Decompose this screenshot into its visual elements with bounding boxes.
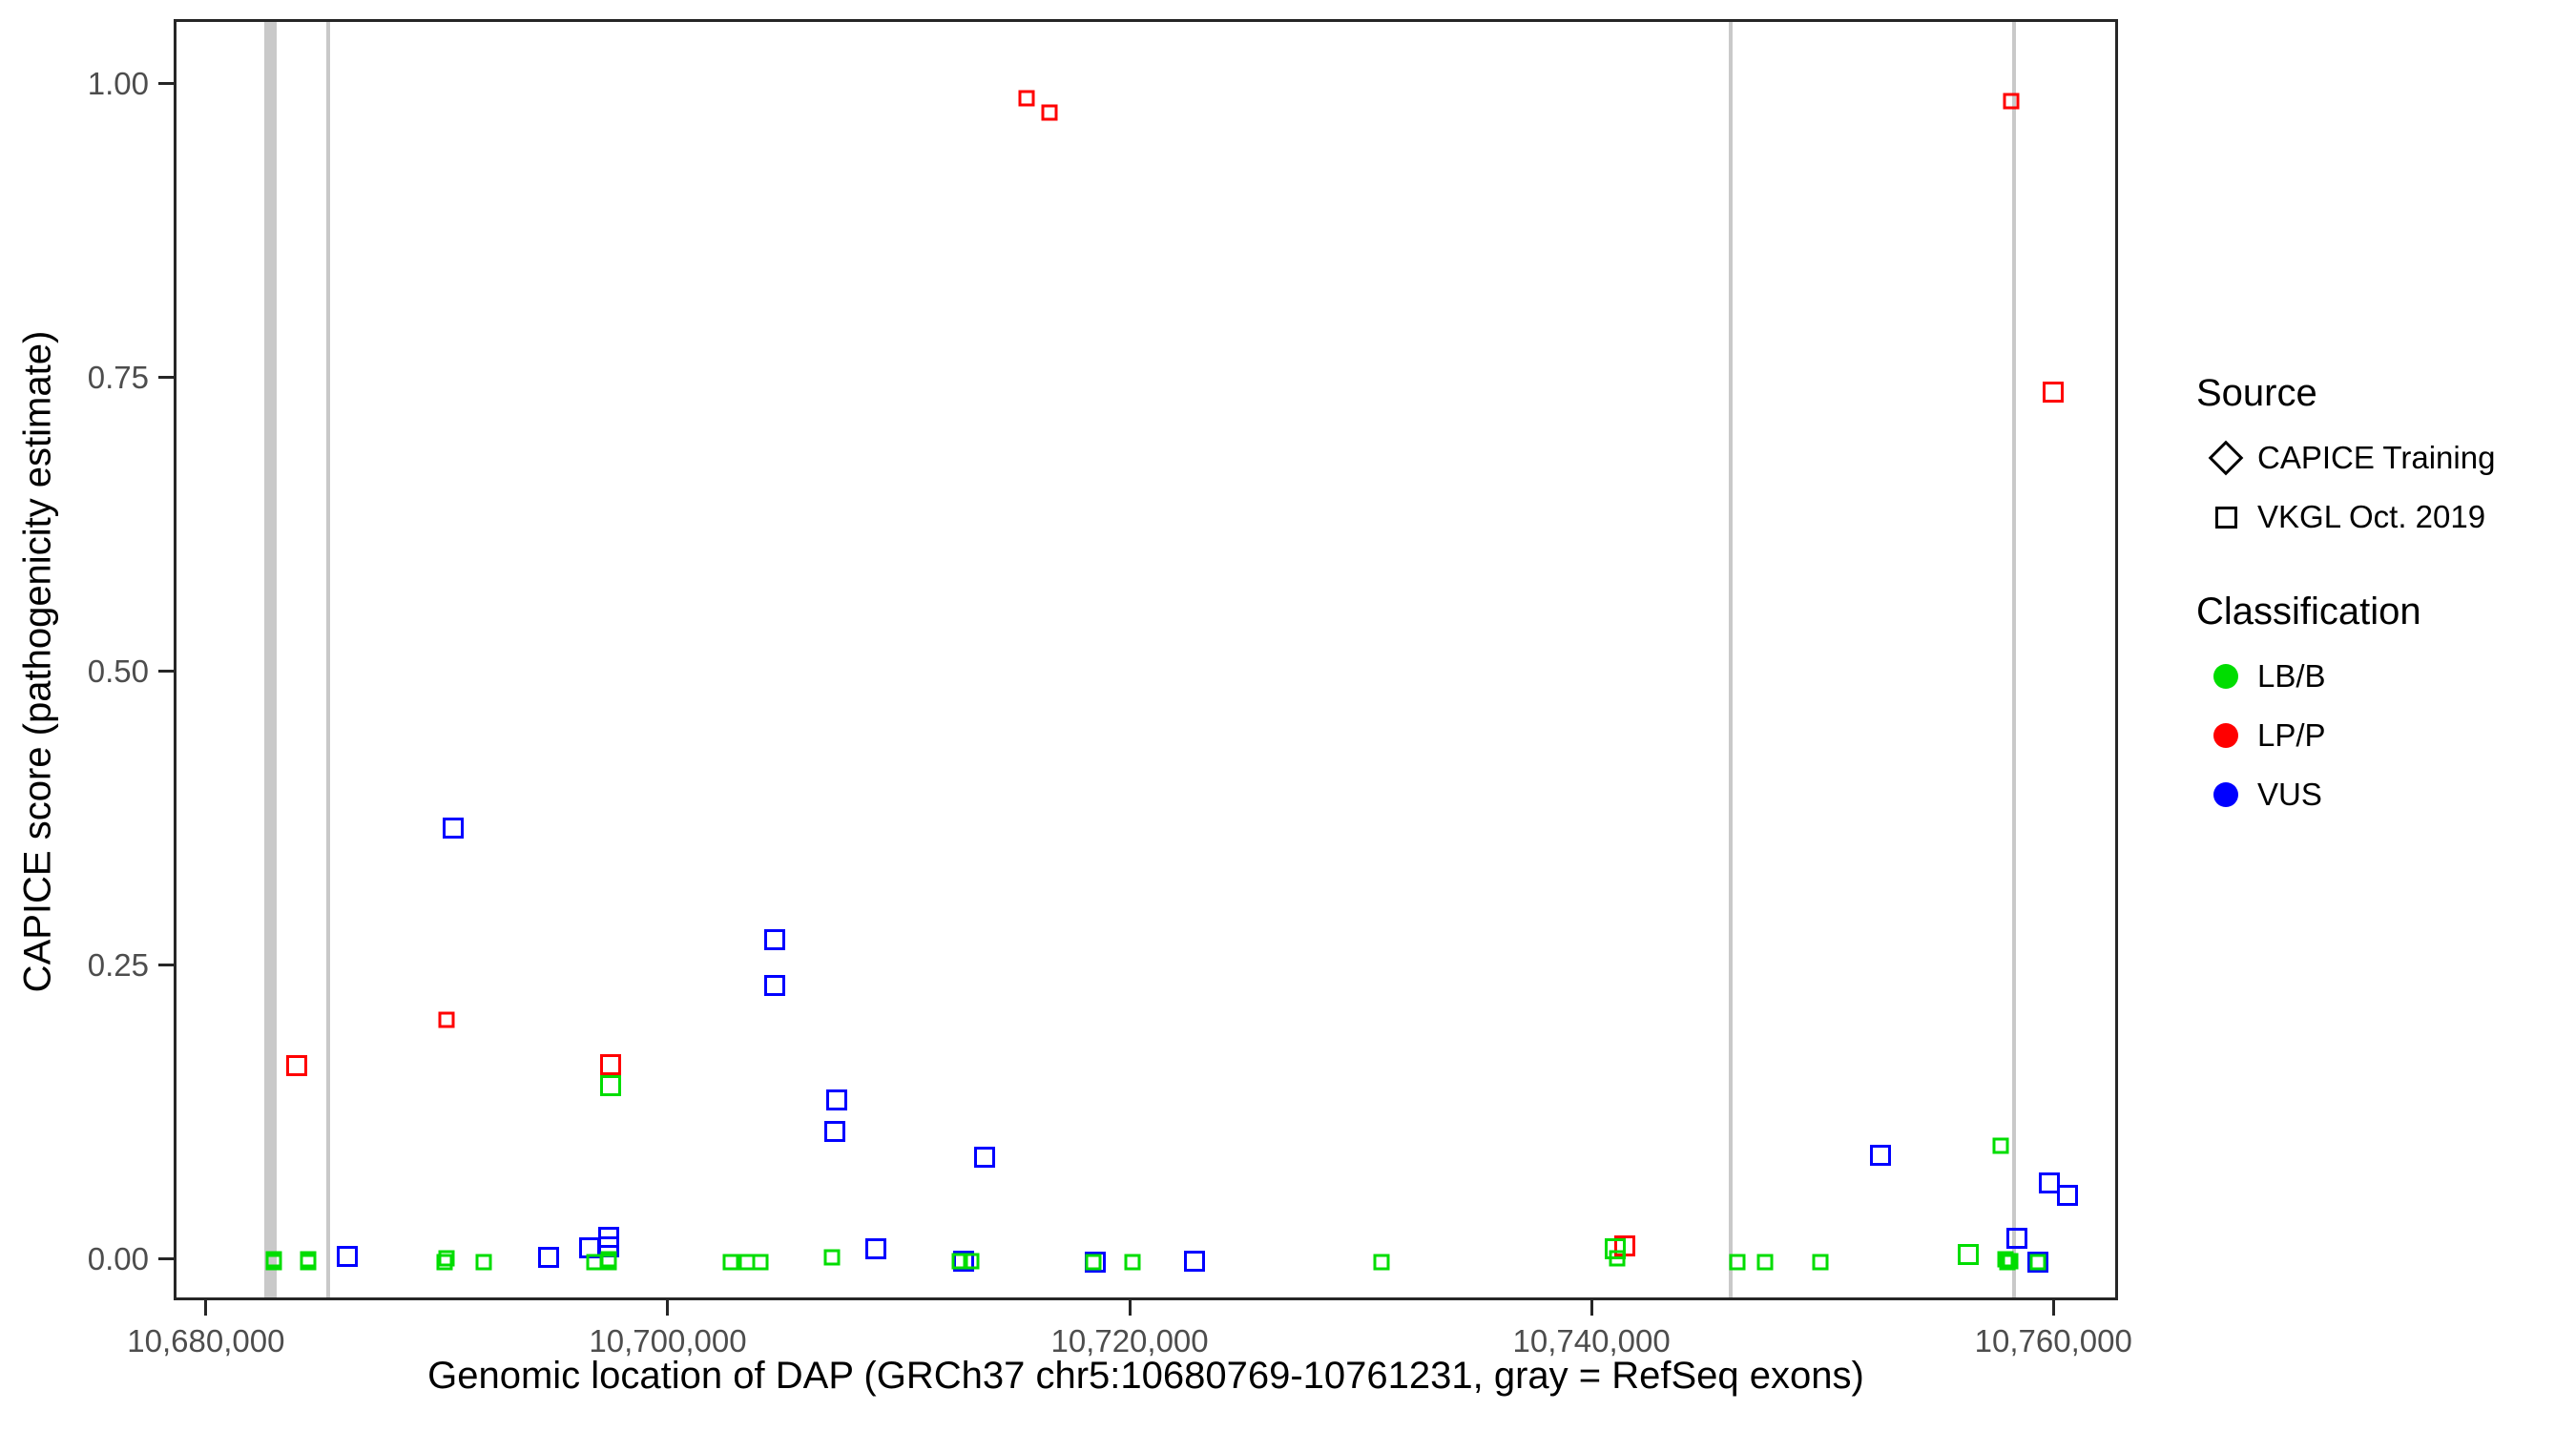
square-marker-icon (1870, 1145, 1891, 1166)
y-axis-tick-label: 0.00 (88, 1241, 149, 1277)
diamond-marker-icon (1125, 1254, 1141, 1270)
square-outline-icon (2194, 507, 2257, 529)
legend-label: VUS (2257, 777, 2322, 813)
plot-panel (174, 19, 2118, 1300)
square-marker-icon (974, 1147, 995, 1168)
legend-item-vus[interactable]: VUS (2194, 765, 2557, 824)
dot-icon (2194, 664, 2257, 689)
plot-area (177, 22, 2115, 1297)
x-axis-tick (666, 1300, 669, 1316)
y-axis-tick (158, 82, 174, 85)
diamond-marker-icon (753, 1254, 769, 1270)
y-axis: 0.000.250.500.751.00 (0, 19, 174, 1300)
dot-icon (2194, 782, 2257, 807)
legend-item-lp-p[interactable]: LP/P (2194, 706, 2557, 765)
legend-label: LB/B (2257, 658, 2326, 695)
diamond-marker-icon (1018, 91, 1034, 107)
y-axis-tick (158, 670, 174, 673)
diamond-marker-icon (600, 1252, 616, 1268)
exon-band (2012, 22, 2016, 1297)
x-axis-tick (1590, 1300, 1593, 1316)
square-marker-icon (600, 1075, 621, 1096)
diamond-marker-icon (1610, 1251, 1626, 1267)
legend-spacer (2194, 547, 2557, 591)
diamond-marker-icon (475, 1254, 491, 1270)
diamond-marker-icon (2029, 1254, 2046, 1270)
square-marker-icon (2057, 1185, 2078, 1206)
x-axis-tick (2052, 1300, 2055, 1316)
square-marker-icon (865, 1238, 886, 1259)
diamond-marker-icon (1813, 1254, 1829, 1270)
legend-label: CAPICE Training (2257, 440, 2495, 476)
diamond-marker-icon (300, 1254, 316, 1270)
square-marker-icon (538, 1247, 559, 1268)
legend-item-lb-b[interactable]: LB/B (2194, 647, 2557, 706)
diamond-marker-icon (963, 1253, 979, 1269)
diamond-marker-icon (1730, 1254, 1746, 1270)
diamond-marker-icon (824, 1249, 841, 1265)
diamond-marker-icon (1374, 1254, 1390, 1270)
diamond-marker-icon (1757, 1254, 1774, 1270)
square-marker-icon (764, 929, 785, 950)
diamond-marker-icon (436, 1254, 452, 1270)
square-marker-icon (1184, 1251, 1205, 1272)
y-axis-tick (158, 964, 174, 966)
square-marker-icon (764, 975, 785, 996)
legend-item-capice-training[interactable]: CAPICE Training (2194, 428, 2557, 487)
legend: Source CAPICE Training VKGL Oct. 2019 Cl… (2194, 372, 2557, 824)
exon-band (1729, 22, 1733, 1297)
y-axis-tick (158, 1257, 174, 1260)
y-axis-tick-label: 0.75 (88, 360, 149, 396)
square-marker-icon (600, 1054, 621, 1075)
y-axis-tick-label: 0.25 (88, 947, 149, 984)
y-axis-tick-label: 1.00 (88, 66, 149, 102)
exon-band (326, 22, 330, 1297)
square-marker-icon (443, 818, 464, 839)
legend-item-vkgl-oct-2019[interactable]: VKGL Oct. 2019 (2194, 487, 2557, 547)
x-axis-tick (204, 1300, 207, 1316)
chart-root: CAPICE score (pathogenicity estimate) 0.… (0, 0, 2576, 1431)
legend-label: LP/P (2257, 717, 2326, 754)
diamond-marker-icon (2004, 93, 2020, 109)
square-marker-icon (2006, 1228, 2027, 1249)
y-axis-tick (158, 376, 174, 379)
y-axis-tick-label: 0.50 (88, 653, 149, 690)
legend-label: VKGL Oct. 2019 (2257, 499, 2485, 535)
x-axis-tick (1129, 1300, 1132, 1316)
diamond-marker-icon (1085, 1254, 1101, 1270)
exon-band (264, 22, 277, 1297)
square-marker-icon (824, 1121, 845, 1142)
diamond-outline-icon (2194, 446, 2257, 470)
square-marker-icon (286, 1055, 307, 1076)
square-marker-icon (337, 1246, 358, 1267)
legend-title-classification: Classification (2196, 591, 2557, 633)
square-marker-icon (2043, 382, 2064, 403)
diamond-marker-icon (722, 1254, 738, 1270)
dot-icon (2194, 723, 2257, 748)
diamond-marker-icon (439, 1012, 455, 1028)
diamond-marker-icon (1993, 1137, 2009, 1153)
square-marker-icon (826, 1089, 847, 1110)
legend-title-source: Source (2196, 372, 2557, 415)
diamond-marker-icon (2002, 1253, 2018, 1269)
diamond-marker-icon (1041, 104, 1057, 120)
square-marker-icon (1958, 1244, 1979, 1265)
diamond-marker-icon (265, 1254, 281, 1270)
x-axis-title: Genomic location of DAP (GRCh37 chr5:106… (174, 1355, 2118, 1398)
